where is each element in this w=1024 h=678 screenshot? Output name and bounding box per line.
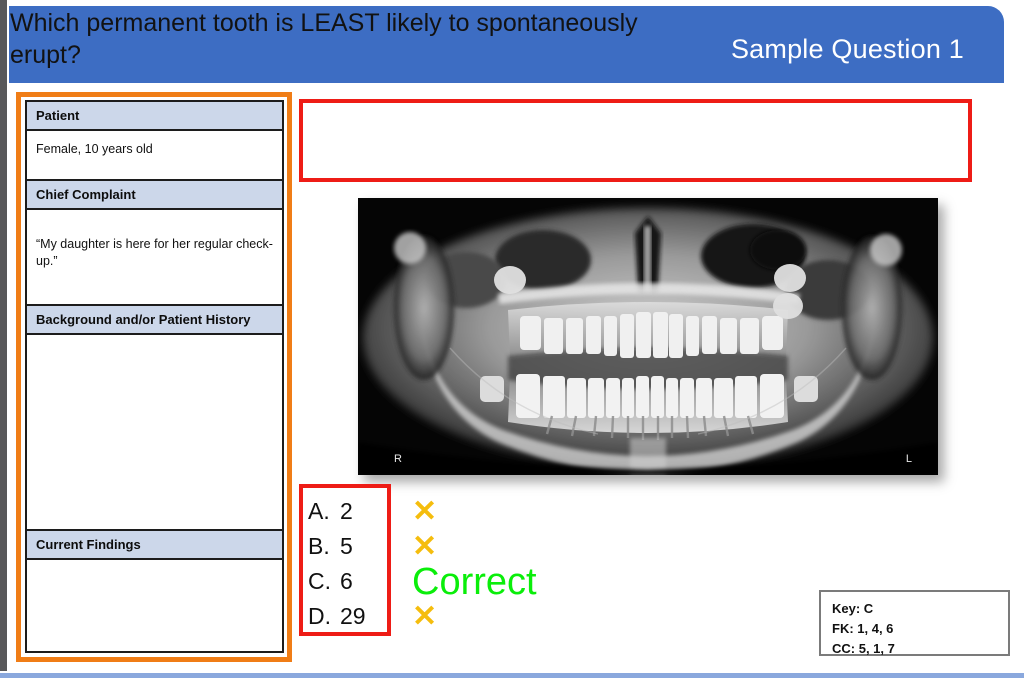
answer-value-b: 5 xyxy=(340,533,353,560)
table-header-chief-complaint: Chief Complaint xyxy=(27,181,282,210)
question-stem-text: Which permanent tooth is LEAST likely to… xyxy=(10,7,655,71)
table-cell-patient: Female, 10 years old xyxy=(27,131,282,181)
table-header-background-history: Background and/or Patient History xyxy=(27,306,282,335)
incorrect-x-icon: ✕ xyxy=(412,532,437,562)
key-line-fk: FK: 1, 4, 6 xyxy=(832,619,1008,639)
feedback-row-b: ✕ xyxy=(412,529,672,564)
answer-option-b[interactable]: B. 5 xyxy=(308,529,403,564)
table-cell-chief-complaint: “My daughter is here for her regular che… xyxy=(27,210,282,306)
table-header-current-findings: Current Findings xyxy=(27,531,282,560)
incorrect-x-icon: ✕ xyxy=(412,602,437,632)
answer-options-list: A. 2 B. 5 C. 6 D. 29 xyxy=(308,494,403,634)
key-line-cc: CC: 5, 1, 7 xyxy=(832,639,1008,659)
slide-canvas: Sample Question 1 Patient Female, 10 yea… xyxy=(0,0,1024,678)
panoramic-radiograph-image: R L xyxy=(358,198,938,475)
answer-option-a[interactable]: A. 2 xyxy=(308,494,403,529)
correct-label: Correct xyxy=(412,563,537,601)
question-highlight-box xyxy=(299,99,972,182)
answer-value-d: 29 xyxy=(340,603,366,630)
answer-letter-d: D. xyxy=(308,603,340,630)
radiograph-label-right: R xyxy=(394,453,402,465)
table-header-patient: Patient xyxy=(27,102,282,131)
table-cell-background-history xyxy=(27,335,282,531)
answer-feedback-column: ✕ ✕ Correct ✕ xyxy=(412,494,672,634)
answer-letter-b: B. xyxy=(308,533,340,560)
patient-info-table: Patient Female, 10 years old Chief Compl… xyxy=(25,100,284,653)
answer-option-c[interactable]: C. 6 xyxy=(308,564,403,599)
answer-letter-c: C. xyxy=(308,568,340,595)
key-line-key: Key: C xyxy=(832,599,1008,619)
radiograph-label-left: L xyxy=(906,453,912,465)
feedback-row-c: Correct xyxy=(412,564,672,599)
answer-value-a: 2 xyxy=(340,498,353,525)
table-cell-current-findings xyxy=(27,560,282,649)
feedback-row-a: ✕ xyxy=(412,494,672,529)
answer-option-d[interactable]: D. 29 xyxy=(308,599,403,634)
incorrect-x-icon: ✕ xyxy=(412,497,437,527)
slide-bottom-rule xyxy=(0,673,1024,678)
answer-value-c: 6 xyxy=(340,568,353,595)
slide-left-rail xyxy=(0,0,7,678)
feedback-row-d: ✕ xyxy=(412,599,672,634)
page-title: Sample Question 1 xyxy=(731,34,964,65)
answer-letter-a: A. xyxy=(308,498,340,525)
answer-key-box: Key: C FK: 1, 4, 6 CC: 5, 1, 7 xyxy=(819,590,1010,656)
